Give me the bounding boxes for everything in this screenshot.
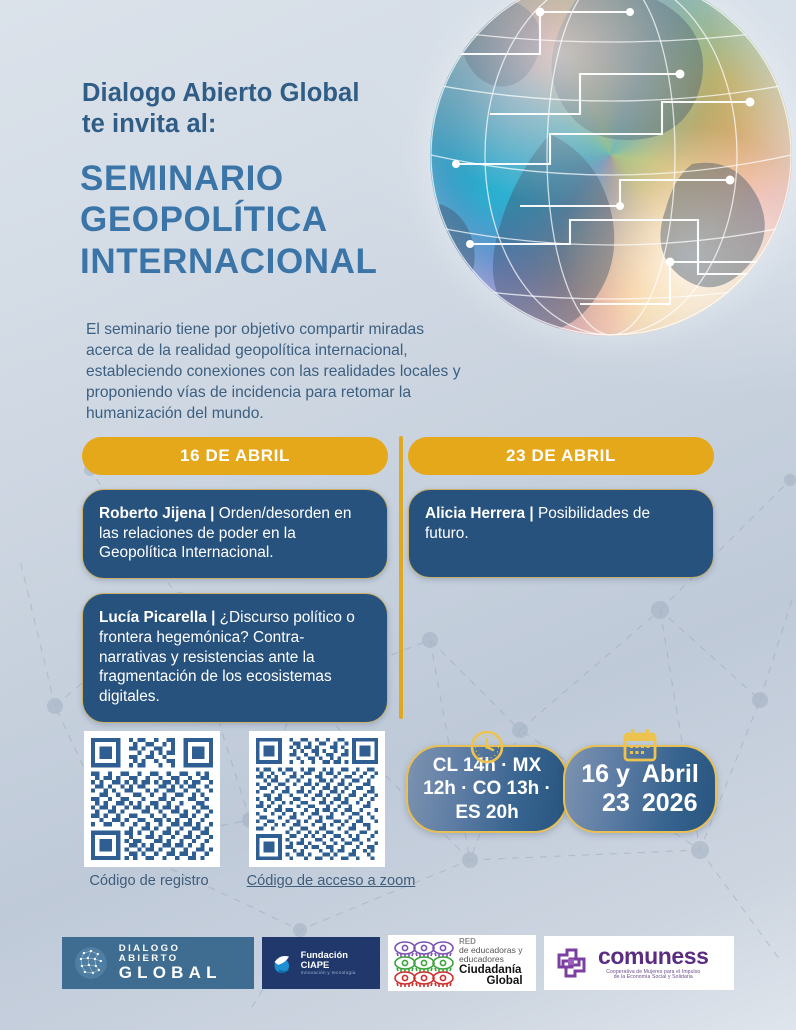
invite-line-2: te invita al:: [82, 109, 462, 140]
session-column-16-abril: 16 DE ABRIL Roberto Jijena | Orden/desor…: [82, 437, 388, 723]
page-title: SEMINARIO GEOPOLÍTICA INTERNACIONAL: [80, 158, 480, 282]
timezone-badge: CL 14h · MX 12h · CO 13h · ES 20h: [406, 745, 568, 833]
session-column-23-abril: 23 DE ABRIL Alicia Herrera | Posibilidad…: [408, 437, 714, 578]
event-year: 2026: [642, 789, 699, 818]
invite-line-1: Dialogo Abierto Global: [82, 78, 462, 109]
comuness-logo-name: comuness: [598, 944, 709, 969]
date-badge-16-abril: 16 DE ABRIL: [82, 437, 388, 475]
ciape-logo-line2: Innovación y tecnología: [301, 970, 372, 975]
comuness-mark-icon: [551, 943, 591, 983]
talk-separator: |: [525, 505, 538, 522]
logo-fundacion-ciape: Fundación CIAPE Innovación y tecnología: [262, 937, 380, 989]
date-badge-23-abril: 23 DE ABRIL: [408, 437, 714, 475]
calendar-icon: [619, 727, 661, 772]
talk-speaker: Lucía Picarella: [99, 609, 207, 626]
intro-paragraph: El seminario tiene por objetivo comparti…: [86, 319, 468, 425]
red-logo-line5: Global: [459, 975, 523, 987]
talk-separator: |: [206, 505, 219, 522]
qr-caption-registro: Código de registro: [64, 872, 234, 890]
talk-speaker: Alicia Herrera: [425, 505, 525, 522]
dag-logo-line1: DIALOGO ABIERTO: [119, 944, 244, 964]
column-divider: [399, 436, 403, 719]
ciape-logo-line1: Fundación CIAPE: [301, 950, 372, 971]
title-line-2: GEOPOLÍTICA: [80, 199, 480, 240]
title-line-1: SEMINARIO: [80, 158, 480, 199]
event-date-badge: 16 y Abril 23 2026: [563, 745, 717, 833]
talk-card: Roberto Jijena | Orden/desorden en las r…: [82, 489, 388, 579]
qr-code-icon: [256, 738, 378, 860]
poster-root: Dialogo Abierto Global te invita al: SEM…: [0, 0, 796, 1030]
qr-code-zoom[interactable]: [249, 731, 385, 867]
talk-card: Lucía Picarella | ¿Discurso político o f…: [82, 593, 388, 723]
comuness-logo-tagline2: de la Economía Social y Solidaria: [598, 975, 709, 981]
title-line-3: INTERNACIONAL: [80, 241, 480, 282]
talk-speaker: Roberto Jijena: [99, 505, 206, 522]
dag-logo-line2: GLOBAL: [119, 964, 244, 982]
qr-code-icon: [91, 738, 213, 860]
event-day-2: 23: [581, 789, 630, 818]
ciape-mark-icon: [270, 950, 294, 976]
qr-caption-zoom[interactable]: Código de acceso a zoom: [246, 872, 416, 890]
logo-red-ciudadania-global: RED de educadoras y educadores Ciudadaní…: [388, 935, 536, 991]
logo-dialogo-abierto-global: DIALOGO ABIERTO GLOBAL: [62, 937, 254, 989]
clock-icon: [467, 727, 507, 774]
logo-comuness: comuness Cooperativa de Mujeres para el …: [544, 936, 734, 990]
linked-eyes-icon: [393, 939, 455, 987]
invitation-text: Dialogo Abierto Global te invita al:: [82, 78, 462, 139]
talk-card: Alicia Herrera | Posibilidades de futuro…: [408, 489, 714, 578]
footer-logos: DIALOGO ABIERTO GLOBAL Fundación CIAPE I…: [0, 925, 796, 1000]
qr-code-registro[interactable]: [84, 731, 220, 867]
globe-dots-icon: [72, 944, 110, 982]
talk-separator: |: [207, 609, 220, 626]
